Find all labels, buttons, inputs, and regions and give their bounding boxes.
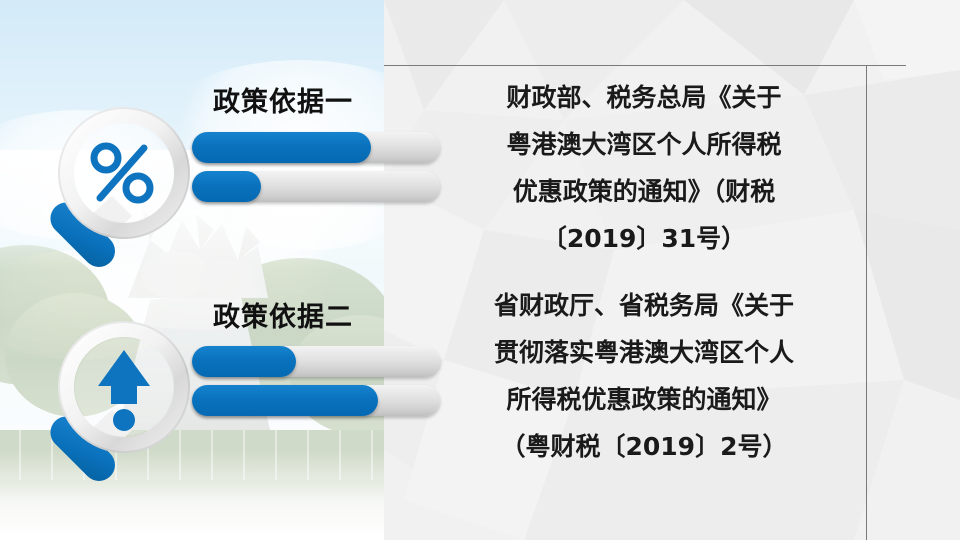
policy-text-line: 优惠政策的通知》（财税 <box>429 168 859 215</box>
magnifier-percent-icon <box>16 96 216 296</box>
policy-text-line: 贯彻落实粤港澳大湾区个人 <box>429 329 859 376</box>
progress-bar-track <box>192 171 440 202</box>
policy-text-line: （粤财税〔2019〕2号） <box>429 423 859 470</box>
policy-text-line: 粤港澳大湾区个人所得税 <box>429 121 859 168</box>
header-divider-line <box>384 65 906 66</box>
policy-text-block-2: 省财政厅、省税务局《关于 贯彻落实粤港澳大湾区个人 所得税优惠政策的通知》 （粤… <box>429 282 859 470</box>
progress-bar-fill <box>192 346 296 377</box>
progress-bar-track <box>192 346 440 377</box>
right-vertical-divider-line <box>866 65 867 540</box>
progress-bar-fill <box>192 385 378 416</box>
policy-text-line: 财政部、税务总局《关于 <box>429 74 859 121</box>
progress-bar-fill <box>192 171 261 202</box>
policy-heading-2: 政策依据二 <box>213 295 353 334</box>
policy-text-line: 〔2019〕31号） <box>429 215 859 262</box>
magnifier-arrow-up-icon <box>16 310 216 510</box>
progress-bars-group-1 <box>192 132 440 210</box>
policy-text-line: 所得税优惠政策的通知》 <box>429 376 859 423</box>
progress-bars-group-2 <box>192 346 440 424</box>
policy-text-line: 省财政厅、省税务局《关于 <box>429 282 859 329</box>
right-content-panel: 财政部、税务总局《关于 粤港澳大湾区个人所得税 优惠政策的通知》（财税 〔201… <box>384 0 960 540</box>
progress-bar-track <box>192 132 440 163</box>
policy-heading-1: 政策依据一 <box>213 80 353 119</box>
policy-text-block-1: 财政部、税务总局《关于 粤港澳大湾区个人所得税 优惠政策的通知》（财税 〔201… <box>429 74 859 262</box>
progress-bar-fill <box>192 132 371 163</box>
slide-canvas: 财政部、税务总局《关于 粤港澳大湾区个人所得税 优惠政策的通知》（财税 〔201… <box>0 0 960 540</box>
progress-bar-track <box>192 385 440 416</box>
